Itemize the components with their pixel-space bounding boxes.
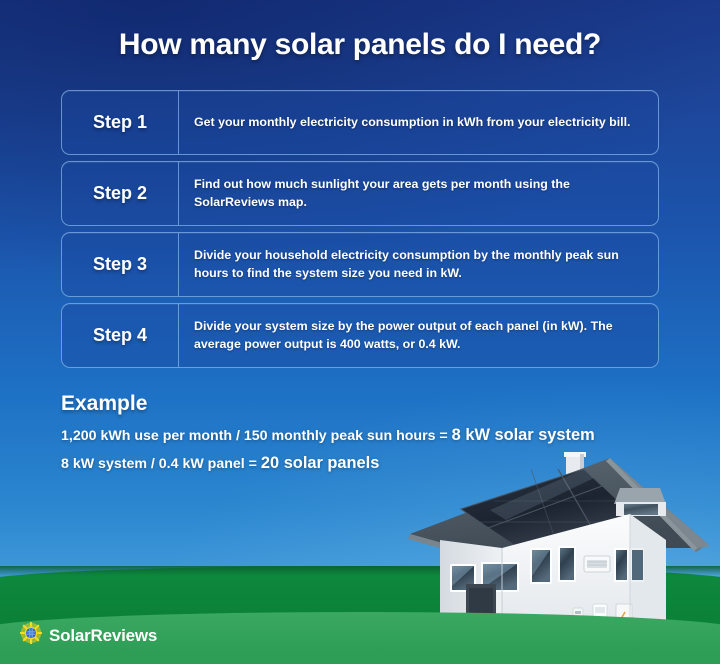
example-line-2: 8 kW system / 0.4 kW panel = 20 solar pa… <box>61 454 681 473</box>
step-row: Step 4 Divide your system size by the po… <box>61 303 659 368</box>
step-row: Step 1 Get your monthly electricity cons… <box>61 90 659 155</box>
brand-name: SolarReviews <box>49 626 157 646</box>
example-heading: Example <box>61 392 681 416</box>
example-line-2-result: 20 solar panels <box>261 454 379 472</box>
step-3-text: Divide your household electricity consum… <box>179 233 658 296</box>
example-line-2-normal: 8 kW system / 0.4 kW panel = <box>61 456 261 472</box>
step-1-text: Get your monthly electricity consumption… <box>179 91 658 154</box>
step-row: Step 3 Divide your household electricity… <box>61 232 659 297</box>
infographic-canvas: How many solar panels do I need? Step 1 … <box>0 0 720 664</box>
steps-list: Step 1 Get your monthly electricity cons… <box>61 90 659 374</box>
solar-sun-icon <box>20 622 42 649</box>
step-4-text: Divide your system size by the power out… <box>179 304 658 367</box>
step-4-label: Step 4 <box>62 304 179 367</box>
step-row: Step 2 Find out how much sunlight your a… <box>61 161 659 226</box>
air-conditioner <box>584 556 610 572</box>
solarreviews-logo: SolarReviews <box>20 622 157 649</box>
page-title: How many solar panels do I need? <box>0 28 720 62</box>
example-line-1-result: 8 kW solar system <box>452 426 595 444</box>
example-section: Example 1,200 kWh use per month / 150 mo… <box>61 392 681 482</box>
example-line-1-normal: 1,200 kWh use per month / 150 monthly pe… <box>61 428 452 444</box>
example-line-1: 1,200 kWh use per month / 150 monthly pe… <box>61 426 681 445</box>
step-2-label: Step 2 <box>62 162 179 225</box>
step-3-label: Step 3 <box>62 233 179 296</box>
step-1-label: Step 1 <box>62 91 179 154</box>
step-2-text: Find out how much sunlight your area get… <box>179 162 658 225</box>
